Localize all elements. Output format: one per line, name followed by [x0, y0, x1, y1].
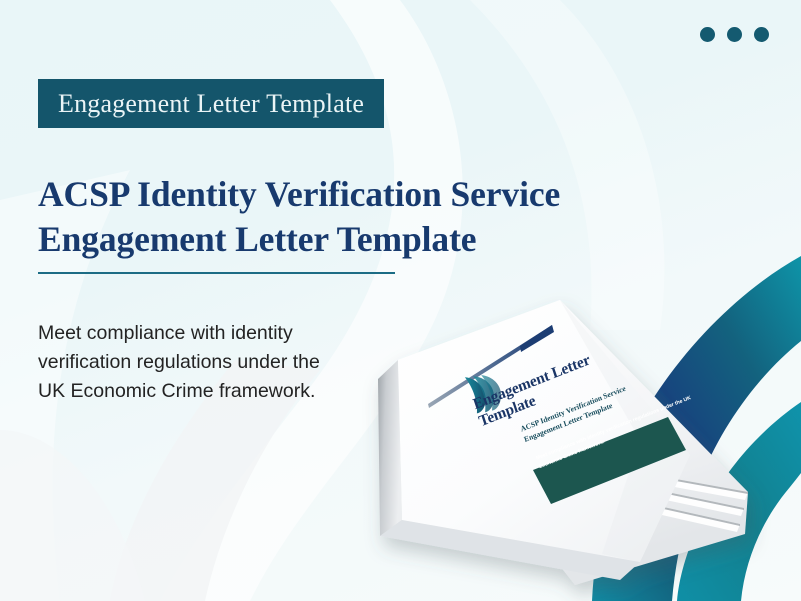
page-subtitle: Meet compliance with identity verificati… [38, 319, 378, 407]
page-title-line-1: ACSP Identity Verification Service [38, 172, 718, 217]
dot-decoration [700, 27, 769, 42]
page-title: ACSP Identity Verification Service Engag… [38, 172, 718, 263]
page-title-line-2: Engagement Letter Template [38, 217, 718, 262]
page-subtitle-line-1: Meet compliance with identity [38, 319, 378, 348]
page-subtitle-line-3: UK Economic Crime framework. [38, 377, 378, 406]
dot-1-icon [700, 27, 715, 42]
category-badge-label: Engagement Letter Template [58, 89, 364, 119]
title-divider [38, 272, 395, 274]
dot-2-icon [727, 27, 742, 42]
category-badge: Engagement Letter Template [38, 79, 384, 128]
dot-3-icon [754, 27, 769, 42]
page-subtitle-line-2: verification regulations under the [38, 348, 378, 377]
promo-banner-canvas: Engagement Letter Template ACSP Identity… [0, 0, 801, 601]
